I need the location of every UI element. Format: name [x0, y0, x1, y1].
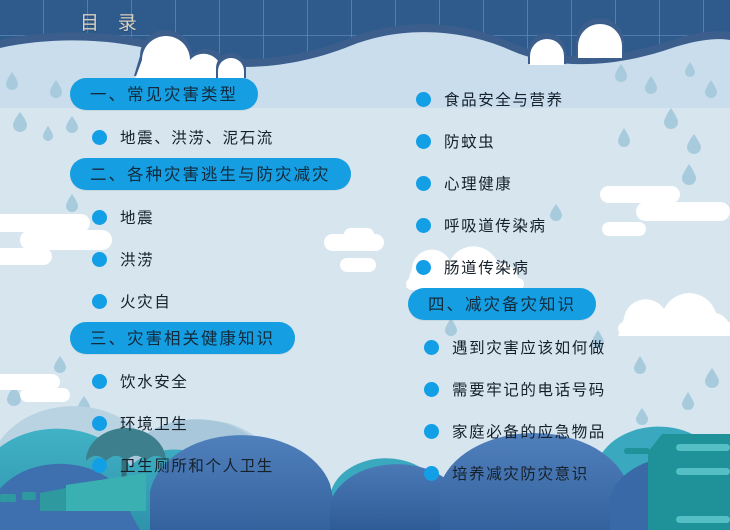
item-respiratory-disease[interactable]: 呼吸道传染病	[416, 204, 728, 246]
item-earthquake[interactable]: 地震	[92, 196, 392, 238]
bullet-icon	[92, 458, 107, 473]
item-fire[interactable]: 火灾自	[92, 280, 392, 322]
item-phone-numbers[interactable]: 需要牢记的电话号码	[424, 368, 728, 410]
item-label: 洪涝	[120, 248, 154, 270]
item-mosquito-prevention[interactable]: 防蚊虫	[416, 120, 728, 162]
section-four[interactable]: 四、减灾备灾知识	[408, 288, 596, 320]
bullet-icon	[416, 218, 431, 233]
item-label: 火灾自	[120, 290, 171, 312]
item-emergency-supplies[interactable]: 家庭必备的应急物品	[424, 410, 728, 452]
item-awareness[interactable]: 培养减灾防灾意识	[424, 452, 728, 494]
item-mental-health[interactable]: 心理健康	[416, 162, 728, 204]
slide-canvas: 目 录 一、常见灾害类型 地震、洪涝、泥石流 二、各种灾害逃生与防灾减灾 地震 …	[0, 0, 730, 530]
section-four-wrap: 四、减灾备灾知识	[408, 288, 728, 320]
page-title: 目 录	[80, 8, 144, 35]
bullet-icon	[92, 374, 107, 389]
bullet-icon	[416, 134, 431, 149]
bullet-icon	[416, 176, 431, 191]
bullet-icon	[92, 252, 107, 267]
bullet-icon	[92, 210, 107, 225]
item-intestinal-disease[interactable]: 肠道传染病	[416, 246, 728, 288]
bullet-icon	[92, 416, 107, 431]
item-label: 遇到灾害应该如何做	[452, 336, 606, 358]
item-label: 卫生厕所和个人卫生	[120, 454, 274, 476]
item-label: 食品安全与营养	[444, 88, 564, 110]
item-toilet-personal-hygiene[interactable]: 卫生厕所和个人卫生	[92, 444, 392, 486]
item-label: 肠道传染病	[444, 256, 530, 278]
item-what-to-do[interactable]: 遇到灾害应该如何做	[424, 326, 728, 368]
bullet-icon	[92, 294, 107, 309]
bullet-icon	[424, 382, 439, 397]
item-label: 需要牢记的电话号码	[452, 378, 606, 400]
item-label: 地震、洪涝、泥石流	[120, 126, 274, 148]
section-two-wrap: 二、各种灾害逃生与防灾减灾	[70, 158, 392, 190]
item-label: 家庭必备的应急物品	[452, 420, 606, 442]
section-one-wrap: 一、常见灾害类型	[70, 78, 392, 110]
bullet-icon	[424, 424, 439, 439]
item-label: 培养减灾防灾意识	[452, 462, 589, 484]
bullet-icon	[416, 92, 431, 107]
section-three[interactable]: 三、灾害相关健康知识	[70, 322, 295, 354]
section-one[interactable]: 一、常见灾害类型	[70, 78, 258, 110]
item-flood[interactable]: 洪涝	[92, 238, 392, 280]
item-label: 防蚊虫	[444, 130, 495, 152]
item-label: 饮水安全	[120, 370, 188, 392]
item-label: 环境卫生	[120, 412, 188, 434]
section-two[interactable]: 二、各种灾害逃生与防灾减灾	[70, 158, 351, 190]
bullet-icon	[424, 466, 439, 481]
bullet-icon	[92, 130, 107, 145]
item-environmental-hygiene[interactable]: 环境卫生	[92, 402, 392, 444]
item-label: 地震	[120, 206, 154, 228]
bullet-icon	[416, 260, 431, 275]
item-drinking-water[interactable]: 饮水安全	[92, 360, 392, 402]
item-label: 心理健康	[444, 172, 512, 194]
item-disaster-types[interactable]: 地震、洪涝、泥石流	[92, 116, 392, 158]
item-label: 呼吸道传染病	[444, 214, 547, 236]
bullet-icon	[424, 340, 439, 355]
toc-column-right: 食品安全与营养 防蚊虫 心理健康 呼吸道传染病 肠道传染病 四、减灾备灾知识 遇…	[408, 78, 728, 494]
item-food-safety[interactable]: 食品安全与营养	[416, 78, 728, 120]
section-three-wrap: 三、灾害相关健康知识	[70, 322, 392, 354]
toc-column-left: 一、常见灾害类型 地震、洪涝、泥石流 二、各种灾害逃生与防灾减灾 地震 洪涝 火…	[62, 78, 392, 486]
